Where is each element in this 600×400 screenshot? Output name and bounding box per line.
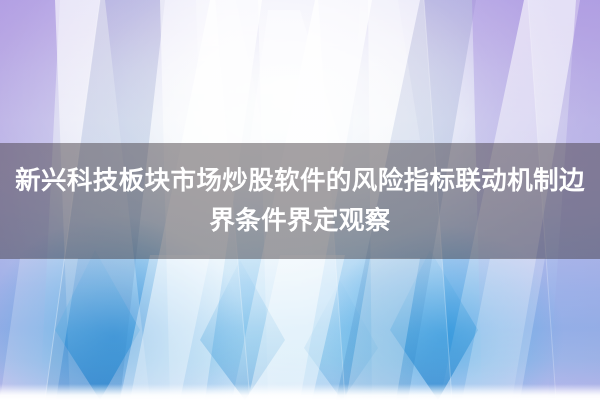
banner-title-line-2: 界条件界定观察: [209, 201, 390, 241]
article-cover-banner: 新兴科技板块市场炒股软件的风险指标联动机制边 界条件界定观察: [0, 0, 600, 400]
banner-title-line-1: 新兴科技板块市场炒股软件的风险指标联动机制边: [15, 161, 585, 201]
bottom-white-fade: [0, 384, 600, 400]
title-overlay-band: 新兴科技板块市场炒股软件的风险指标联动机制边 界条件界定观察: [0, 143, 600, 259]
